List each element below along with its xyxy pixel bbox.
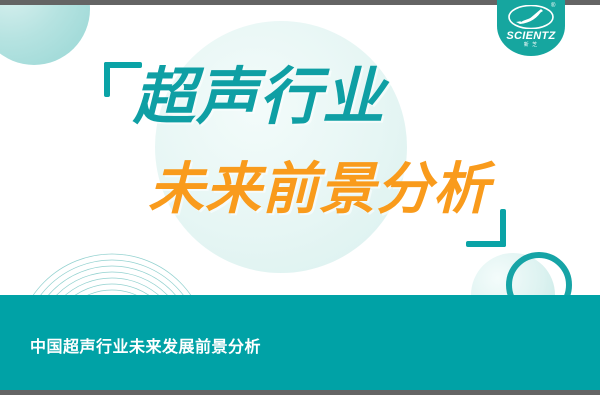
scientz-logo: ® SCIENTZ 新 芝 xyxy=(497,0,565,56)
headline-line-secondary: 未来前景分析 xyxy=(148,161,490,217)
bottom-title-band: 中国超声行业未来发展前景分析 xyxy=(0,295,600,390)
decorative-circle-center xyxy=(155,21,407,273)
presentation-slide: 超声行业 未来前景分析 中国超声行业未来发展前景分析 ® SCIENTZ 新 芝 xyxy=(0,0,600,404)
slide-canvas: 超声行业 未来前景分析 中国超声行业未来发展前景分析 xyxy=(0,5,600,390)
decorative-circle-top-left xyxy=(0,5,90,65)
slide-footer-margin xyxy=(0,395,600,404)
bottom-frame-bar xyxy=(0,390,600,395)
logo-subtext: 新 芝 xyxy=(497,41,565,48)
headline-line-primary: 超声行业 xyxy=(133,67,385,129)
registered-trademark-icon: ® xyxy=(551,3,555,9)
slide-subtitle: 中国超声行业未来发展前景分析 xyxy=(30,333,261,357)
swoosh-emblem-icon xyxy=(508,5,554,29)
